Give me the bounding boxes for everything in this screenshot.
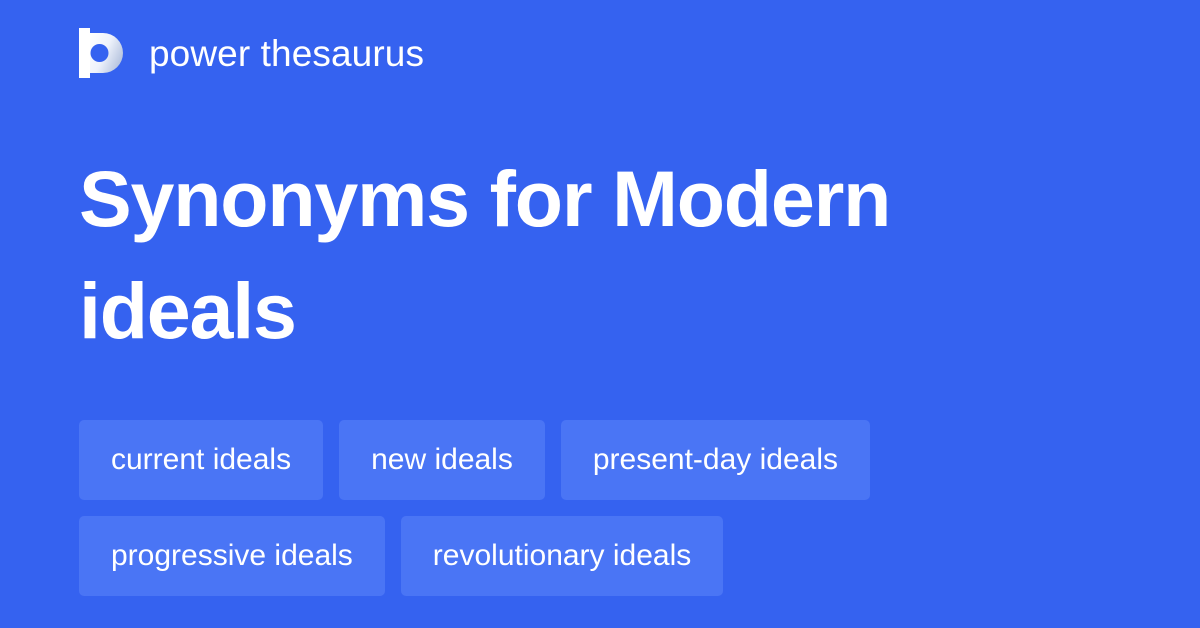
page-title: Synonyms for Modern ideals [79,143,1039,367]
synonym-chip[interactable]: present-day ideals [561,420,870,500]
synonyms-share-card: power thesaurus Synonyms for Modern idea… [0,0,1200,628]
power-thesaurus-b-logo-icon [79,28,127,78]
synonym-chip[interactable]: new ideals [339,420,545,500]
synonym-chip-list: current ideals new ideals present-day id… [79,420,1119,596]
brand-name: power thesaurus [149,35,424,72]
synonym-chip[interactable]: current ideals [79,420,323,500]
synonym-chip[interactable]: revolutionary ideals [401,516,723,596]
brand-header[interactable]: power thesaurus [79,28,424,78]
synonym-chip[interactable]: progressive ideals [79,516,385,596]
